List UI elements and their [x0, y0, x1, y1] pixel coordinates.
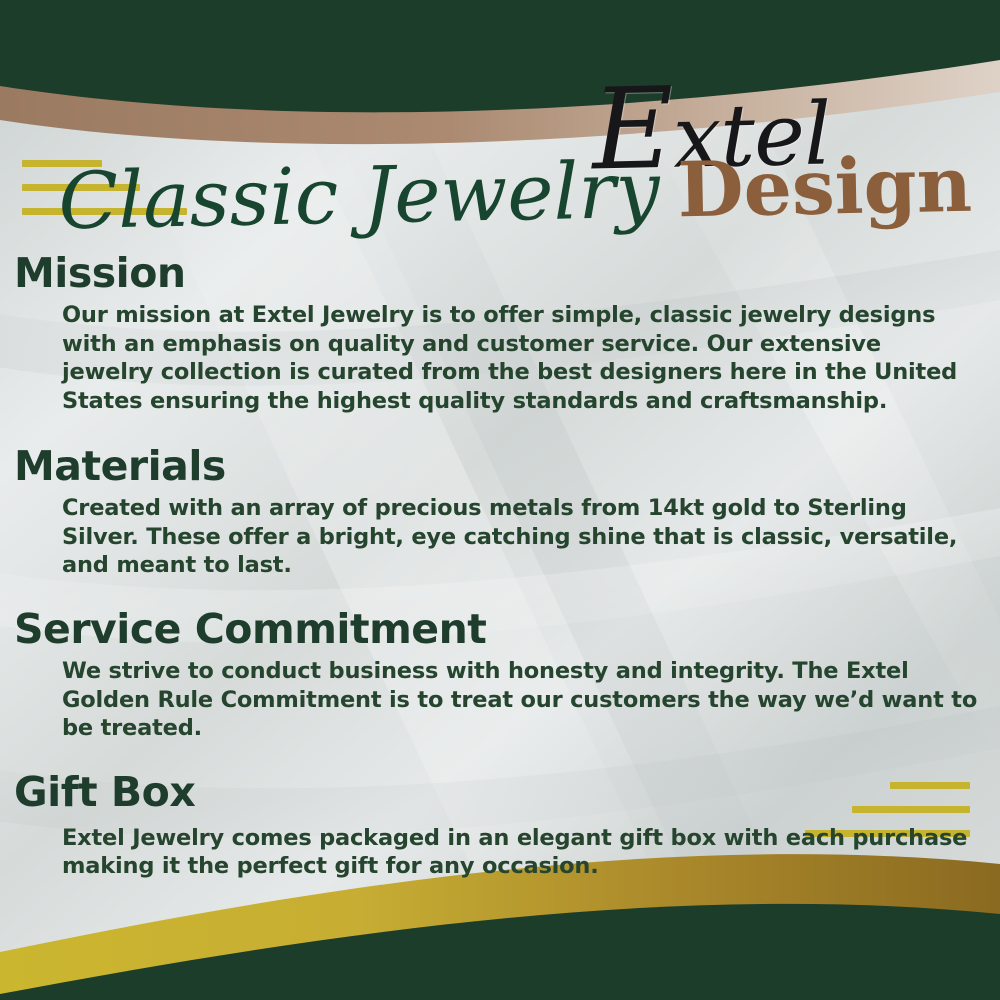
- content-sections: Mission Our mission at Extel Jewelry is …: [0, 252, 1000, 881]
- section-body-gift-box: Extel Jewelry comes packaged in an elega…: [0, 824, 1000, 881]
- section-body-service-commitment: We strive to conduct business with hones…: [0, 657, 1000, 743]
- section-service-commitment: Service Commitment We strive to conduct …: [0, 608, 1000, 743]
- section-gift-box: Gift Box Extel Jewelry comes packaged in…: [0, 771, 1000, 881]
- section-heading-materials: Materials: [0, 445, 1000, 488]
- section-materials: Materials Created with an array of preci…: [0, 445, 1000, 580]
- section-heading-mission: Mission: [0, 252, 1000, 295]
- poster: Extel Classic Jewelry Design Mission Our…: [0, 0, 1000, 1000]
- title-serif-part: Design: [677, 147, 973, 229]
- section-heading-service-commitment: Service Commitment: [0, 608, 1000, 651]
- section-body-mission: Our mission at Extel Jewelry is to offer…: [0, 301, 1000, 415]
- title-script-part: Classic Jewelry: [58, 152, 661, 242]
- page-title: Classic Jewelry Design: [0, 146, 973, 243]
- section-heading-gift-box: Gift Box: [0, 771, 1000, 814]
- section-body-materials: Created with an array of precious metals…: [0, 494, 1000, 580]
- section-mission: Mission Our mission at Extel Jewelry is …: [0, 252, 1000, 415]
